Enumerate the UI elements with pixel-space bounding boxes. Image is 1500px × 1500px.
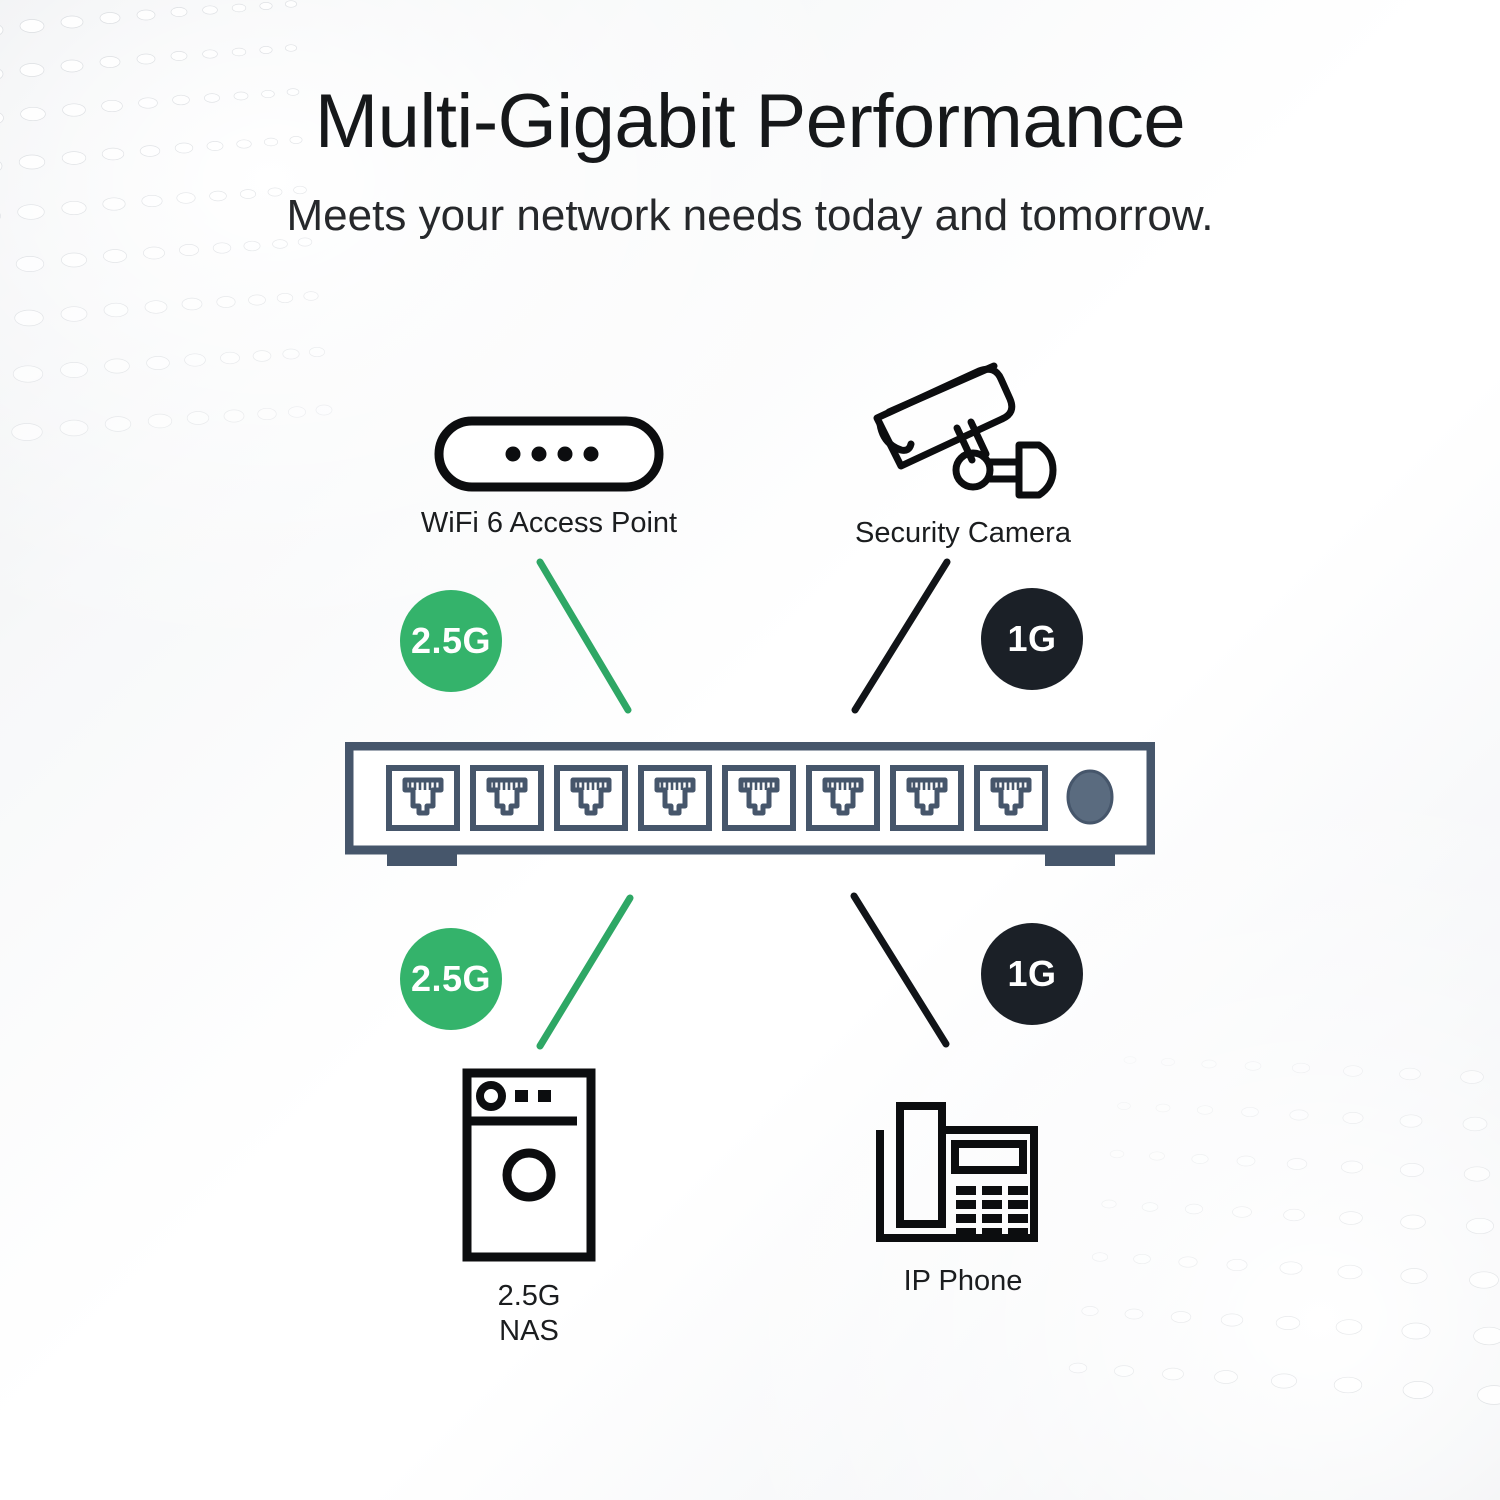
network-diagram: WiFi 6 Access Point [0,0,1500,1500]
node-ip-phone[interactable]: IP Phone [798,1090,1128,1299]
node-label-security-camera: Security Camera [798,516,1128,551]
node-wifi-access-point[interactable]: WiFi 6 Access Point [364,382,734,541]
led-indicator[interactable] [1068,771,1112,823]
speed-badge-ip-phone[interactable]: 1G [981,923,1083,1025]
network-switch[interactable] [345,742,1155,877]
ip-phone-icon [798,1090,1128,1250]
infographic-canvas: Multi-Gigabit Performance Meets your net… [0,0,1500,1500]
speed-badge-label: 2.5G [411,620,491,662]
node-label-wifi-access-point: WiFi 6 Access Point [364,506,734,541]
node-label-ip-phone: IP Phone [798,1264,1128,1299]
wifi-access-point-icon [364,382,734,492]
speed-badge-security-camera[interactable]: 1G [981,588,1083,690]
speed-badge-nas[interactable]: 2.5G [400,928,502,1030]
nas-icon [364,1060,694,1265]
node-label-nas: 2.5G NAS [364,1279,694,1350]
speed-badge-label: 1G [1007,953,1056,995]
security-camera-icon [798,362,1128,502]
speed-badge-label: 2.5G [411,958,491,1000]
speed-badge-wifi-access-point[interactable]: 2.5G [400,590,502,692]
node-nas[interactable]: 2.5G NAS [364,1060,694,1350]
node-security-camera[interactable]: Security Camera [798,362,1128,551]
speed-badge-label: 1G [1007,618,1056,660]
